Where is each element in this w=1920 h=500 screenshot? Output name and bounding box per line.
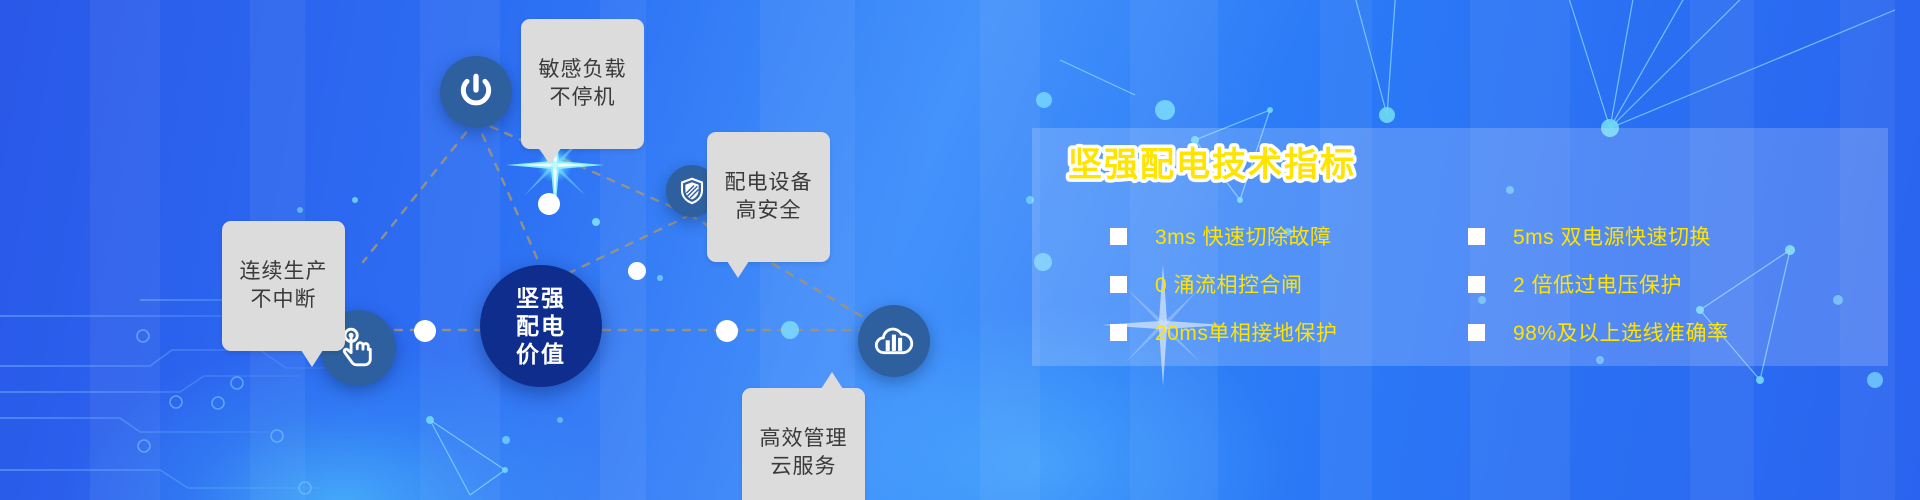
power-icon: [456, 72, 496, 112]
bubble-tail: [727, 261, 749, 278]
spec-text: 5ms 双电源快速切换: [1513, 221, 1711, 251]
bullet-square-icon: [1110, 324, 1127, 341]
spec-text: 3ms 快速切除故障: [1155, 221, 1332, 251]
callout-cloud: 高效管理 云服务: [742, 388, 865, 500]
tech-spec-panel: 坚强配电技术指标 3ms 快速切除故障 5ms 双电源快速切换 0 涌流相控合闸…: [1032, 128, 1888, 366]
connector-dot: [538, 193, 560, 215]
banner-stage: 坚强 配电 价值 敏感负载 不停机 配电设备 高安全 连续生产 不中断 高效管理…: [0, 0, 1920, 500]
spec-text: 0 涌流相控合闸: [1155, 269, 1303, 299]
bullet-square-icon: [1110, 228, 1127, 245]
callout-cloud-text: 高效管理 云服务: [760, 427, 848, 477]
bullet-square-icon: [1468, 228, 1485, 245]
bullet-square-icon: [1468, 324, 1485, 341]
cloud-chart-icon: [871, 318, 917, 364]
hub-line-1: 坚强: [516, 284, 566, 312]
connector-dot: [628, 262, 646, 280]
spec-text: 20ms单相接地保护: [1155, 317, 1337, 347]
hub-line-3: 价值: [516, 340, 566, 368]
circuit-node-rings: [137, 328, 317, 494]
callout-touch: 连续生产 不中断: [222, 221, 345, 351]
spec-item: 3ms 快速切除故障: [1110, 212, 1450, 260]
node-power[interactable]: [440, 56, 512, 128]
spec-item: 98%及以上选线准确率: [1468, 308, 1808, 356]
bullet-square-icon: [1468, 276, 1485, 293]
spec-item: 20ms单相接地保护: [1110, 308, 1450, 356]
bubble-tail: [821, 372, 843, 389]
spec-text: 98%及以上选线准确率: [1513, 317, 1729, 347]
hub-line-2: 配电: [516, 312, 566, 340]
node-cloud[interactable]: [858, 305, 930, 377]
connector-dot: [716, 320, 738, 342]
callout-power: 敏感负载 不停机: [521, 19, 644, 149]
callout-power-text: 敏感负载 不停机: [539, 58, 627, 108]
spec-item: 0 涌流相控合闸: [1110, 260, 1450, 308]
connector-dot: [414, 320, 436, 342]
spec-item: 2 倍低过电压保护: [1468, 260, 1808, 308]
callout-touch-text: 连续生产 不中断: [240, 260, 328, 310]
hub-core[interactable]: 坚强 配电 价值: [480, 265, 602, 387]
callout-shield: 配电设备 高安全: [707, 132, 830, 262]
panel-title-graphic: 坚强配电技术指标: [1066, 136, 1566, 192]
background-band: [980, 0, 1040, 500]
bullet-square-icon: [1110, 276, 1127, 293]
callout-shield-text: 配电设备 高安全: [725, 171, 813, 221]
bubble-tail: [301, 350, 323, 367]
spec-list: 3ms 快速切除故障 5ms 双电源快速切换 0 涌流相控合闸 2 倍低过电压保…: [1110, 212, 1890, 356]
spec-item: 5ms 双电源快速切换: [1468, 212, 1808, 260]
panel-title: 坚强配电技术指标: [1068, 146, 1356, 184]
shield-icon: [677, 176, 707, 206]
background-band: [90, 0, 160, 500]
spec-text: 2 倍低过电压保护: [1513, 269, 1682, 299]
bubble-tail: [539, 148, 561, 165]
